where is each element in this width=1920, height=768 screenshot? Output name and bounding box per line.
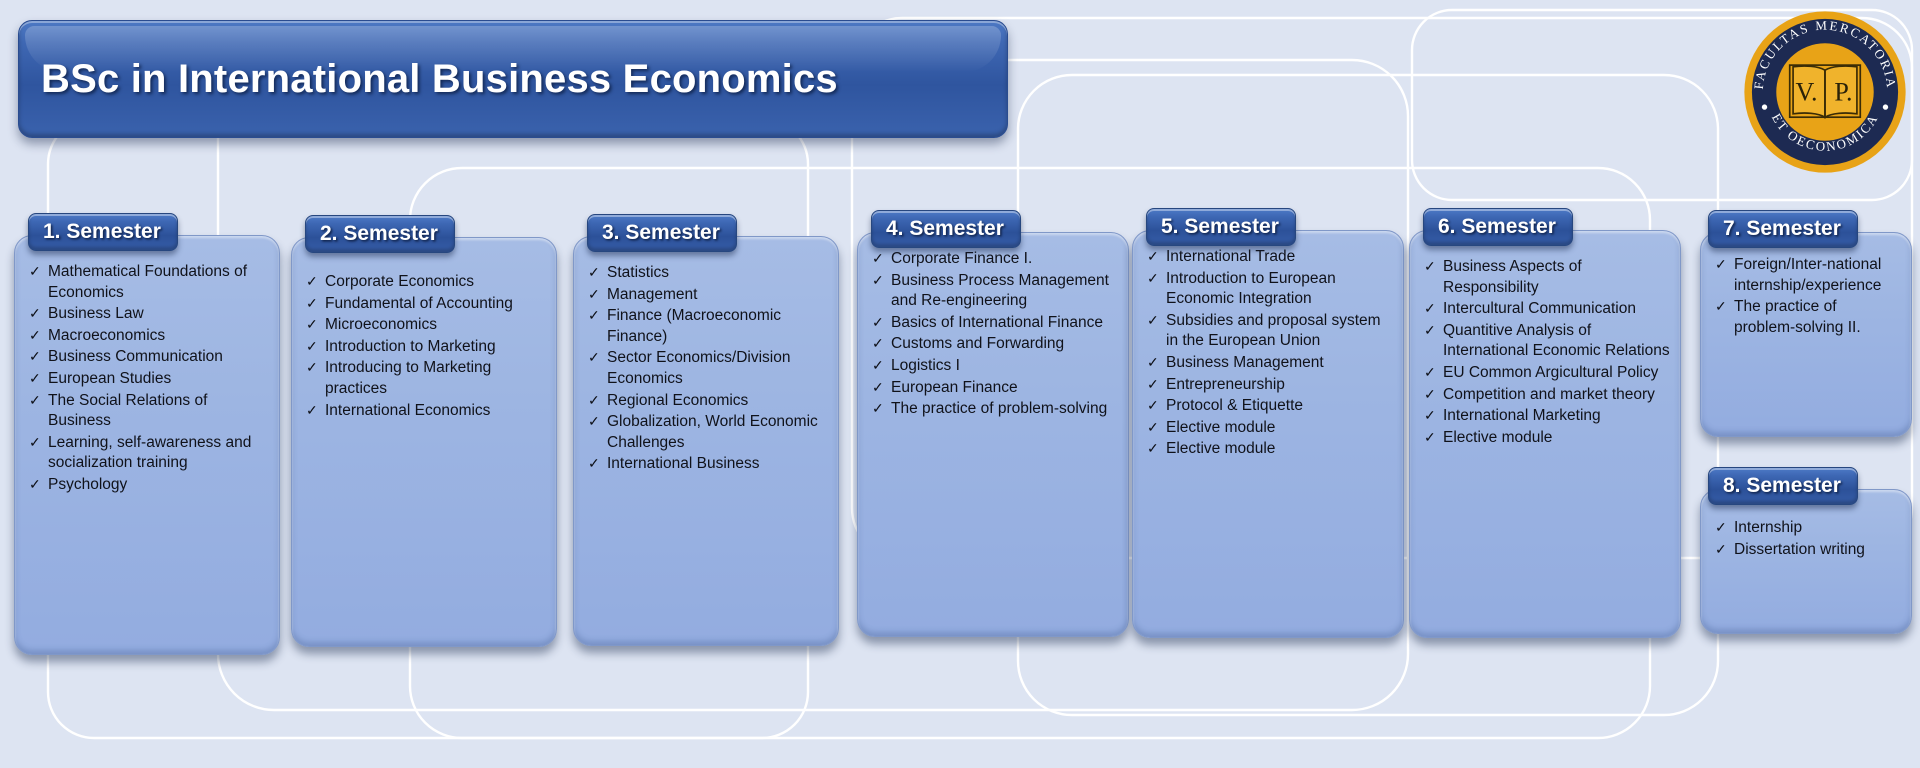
list-item: ✓Statistics — [588, 263, 828, 284]
check-icon: ✓ — [588, 391, 600, 410]
semester-1-header[interactable]: 1. Semester — [28, 213, 178, 251]
check-icon: ✓ — [588, 348, 600, 367]
check-icon: ✓ — [1715, 540, 1727, 559]
check-icon: ✓ — [1715, 518, 1727, 537]
list-item: ✓Business Communication — [29, 347, 269, 368]
semester-8-body: ✓Internship ✓Dissertation writing — [1700, 489, 1912, 634]
list-item: ✓Customs and Forwarding — [872, 334, 1118, 355]
check-icon: ✓ — [1424, 385, 1436, 404]
list-item: ✓Logistics I — [872, 356, 1118, 377]
list-item: ✓Corporate Finance I. — [872, 249, 1118, 270]
list-item: ✓Subsidies and proposal system in the Eu… — [1147, 311, 1393, 352]
semester-4-title: 4. Semester — [886, 217, 1004, 241]
faculty-seal-logo: V. P. FACULTAS MERCATORIA ET OECONOMICA — [1741, 8, 1909, 176]
semester-5-header[interactable]: 5. Semester — [1146, 208, 1296, 246]
check-icon: ✓ — [588, 263, 600, 282]
check-icon: ✓ — [1147, 247, 1159, 266]
list-item: ✓International Trade — [1147, 247, 1393, 268]
list-item: ✓Fundamental of Accounting — [306, 294, 546, 315]
check-icon: ✓ — [306, 294, 318, 313]
check-icon: ✓ — [29, 391, 41, 410]
list-item: ✓Elective module — [1147, 439, 1393, 460]
check-icon: ✓ — [29, 326, 41, 345]
check-icon: ✓ — [1147, 439, 1159, 458]
check-icon: ✓ — [29, 369, 41, 388]
check-icon: ✓ — [1147, 353, 1159, 372]
check-icon: ✓ — [306, 337, 318, 356]
semester-1-course-list: ✓Mathematical Foundations of Economics ✓… — [15, 236, 279, 511]
check-icon: ✓ — [1147, 418, 1159, 437]
list-item: ✓Corporate Economics — [306, 272, 546, 293]
check-icon: ✓ — [29, 262, 41, 281]
semester-3-title: 3. Semester — [602, 221, 720, 245]
list-item: ✓Learning, self-awareness and socializat… — [29, 433, 269, 474]
semester-7-body: ✓Foreign/Inter-national internship/exper… — [1700, 232, 1912, 437]
semester-3-course-list: ✓Statistics ✓Management ✓Finance (Macroe… — [574, 237, 838, 490]
semester-4-body: ✓Corporate Finance I. ✓Business Process … — [857, 232, 1129, 637]
check-icon: ✓ — [872, 356, 884, 375]
semester-5-title: 5. Semester — [1161, 215, 1279, 239]
semester-3-body: ✓Statistics ✓Management ✓Finance (Macroe… — [573, 236, 839, 646]
semester-7-header[interactable]: 7. Semester — [1708, 210, 1858, 248]
check-icon: ✓ — [1147, 375, 1159, 394]
seal-letter-p: P. — [1834, 77, 1852, 106]
check-icon: ✓ — [872, 334, 884, 353]
list-item: ✓Psychology — [29, 475, 269, 496]
check-icon: ✓ — [872, 399, 884, 418]
semester-1-title: 1. Semester — [43, 220, 161, 244]
semester-8-header[interactable]: 8. Semester — [1708, 467, 1858, 505]
list-item: ✓Internship — [1715, 518, 1901, 539]
check-icon: ✓ — [306, 401, 318, 420]
check-icon: ✓ — [1424, 299, 1436, 318]
list-item: ✓Intercultural Communication — [1424, 299, 1670, 320]
list-item: ✓Globalization, World Economic Challenge… — [588, 412, 828, 453]
list-item: ✓Sector Economics/Division Economics — [588, 348, 828, 389]
check-icon: ✓ — [588, 454, 600, 473]
list-item: ✓Management — [588, 285, 828, 306]
check-icon: ✓ — [872, 378, 884, 397]
check-icon: ✓ — [1424, 406, 1436, 425]
check-icon: ✓ — [1424, 363, 1436, 382]
list-item: ✓European Studies — [29, 369, 269, 390]
semester-6-header[interactable]: 6. Semester — [1423, 208, 1573, 246]
semester-7-title: 7. Semester — [1723, 217, 1841, 241]
list-item: ✓Introduction to Marketing — [306, 337, 546, 358]
semester-7-course-list: ✓Foreign/Inter-national internship/exper… — [1701, 233, 1911, 353]
list-item: ✓Elective module — [1424, 428, 1670, 449]
list-item: ✓Protocol & Etiquette — [1147, 396, 1393, 417]
semester-2-header[interactable]: 2. Semester — [305, 215, 455, 253]
page-title: BSc in International Business Economics — [19, 57, 838, 102]
list-item: ✓International Marketing — [1424, 406, 1670, 427]
list-item: ✓Business Management — [1147, 353, 1393, 374]
semester-4-course-list: ✓Corporate Finance I. ✓Business Process … — [858, 233, 1128, 435]
list-item: ✓Elective module — [1147, 418, 1393, 439]
list-item: ✓European Finance — [872, 378, 1118, 399]
check-icon: ✓ — [588, 412, 600, 431]
list-item: ✓Quantitive Analysis of International Ec… — [1424, 321, 1670, 362]
list-item: ✓Macroeconomics — [29, 326, 269, 347]
semester-2-title: 2. Semester — [320, 222, 438, 246]
check-icon: ✓ — [1424, 257, 1436, 276]
list-item: ✓Basics of International Finance — [872, 313, 1118, 334]
check-icon: ✓ — [1424, 428, 1436, 447]
semester-5-body: ✓International Trade ✓Introduction to Eu… — [1132, 230, 1404, 638]
check-icon: ✓ — [872, 313, 884, 332]
list-item: ✓Dissertation writing — [1715, 540, 1901, 561]
list-item: ✓Introduction to European Economic Integ… — [1147, 269, 1393, 310]
check-icon: ✓ — [29, 433, 41, 452]
list-item: ✓EU Common Argicultural Policy — [1424, 363, 1670, 384]
list-item: ✓Competition and market theory — [1424, 385, 1670, 406]
check-icon: ✓ — [588, 306, 600, 325]
check-icon: ✓ — [1424, 321, 1436, 340]
semester-1-body: ✓Mathematical Foundations of Economics ✓… — [14, 235, 280, 655]
list-item: ✓International Business — [588, 454, 828, 475]
list-item: ✓Foreign/Inter-national internship/exper… — [1715, 255, 1901, 296]
check-icon: ✓ — [29, 304, 41, 323]
list-item: ✓Regional Economics — [588, 391, 828, 412]
list-item: ✓Microeconomics — [306, 315, 546, 336]
list-item: ✓Entrepreneurship — [1147, 375, 1393, 396]
list-item: ✓Business Aspects of Responsibility — [1424, 257, 1670, 298]
list-item: ✓The practice of problem-solving II. — [1715, 297, 1901, 338]
page-title-banner: BSc in International Business Economics — [18, 20, 1008, 138]
seal-letter-v: V. — [1796, 77, 1818, 106]
check-icon: ✓ — [29, 347, 41, 366]
semester-8-title: 8. Semester — [1723, 474, 1841, 498]
list-item: ✓Mathematical Foundations of Economics — [29, 262, 269, 303]
semester-5-course-list: ✓International Trade ✓Introduction to Eu… — [1133, 231, 1403, 475]
check-icon: ✓ — [1147, 269, 1159, 288]
check-icon: ✓ — [1715, 255, 1727, 274]
check-icon: ✓ — [306, 315, 318, 334]
check-icon: ✓ — [1147, 396, 1159, 415]
check-icon: ✓ — [1715, 297, 1727, 316]
list-item: ✓Business Process Management and Re-engi… — [872, 271, 1118, 312]
list-item: ✓Business Law — [29, 304, 269, 325]
semester-2-body: ✓Corporate Economics ✓Fundamental of Acc… — [291, 237, 557, 647]
check-icon: ✓ — [588, 285, 600, 304]
list-item: ✓International Economics — [306, 401, 546, 422]
semester-2-course-list: ✓Corporate Economics ✓Fundamental of Acc… — [292, 238, 556, 436]
semester-3-header[interactable]: 3. Semester — [587, 214, 737, 252]
semester-6-title: 6. Semester — [1438, 215, 1556, 239]
list-item: ✓The Social Relations of Business — [29, 391, 269, 432]
check-icon: ✓ — [306, 272, 318, 291]
check-icon: ✓ — [872, 249, 884, 268]
semester-6-course-list: ✓Business Aspects of Responsibility ✓Int… — [1410, 231, 1680, 463]
list-item: ✓Introducing to Marketing practices — [306, 358, 546, 399]
list-item: ✓The practice of problem-solving — [872, 399, 1118, 420]
semester-6-body: ✓Business Aspects of Responsibility ✓Int… — [1409, 230, 1681, 638]
check-icon: ✓ — [1147, 311, 1159, 330]
check-icon: ✓ — [29, 475, 41, 494]
semester-4-header[interactable]: 4. Semester — [871, 210, 1021, 248]
check-icon: ✓ — [306, 358, 318, 377]
list-item: ✓Finance (Macroeconomic Finance) — [588, 306, 828, 347]
check-icon: ✓ — [872, 271, 884, 290]
